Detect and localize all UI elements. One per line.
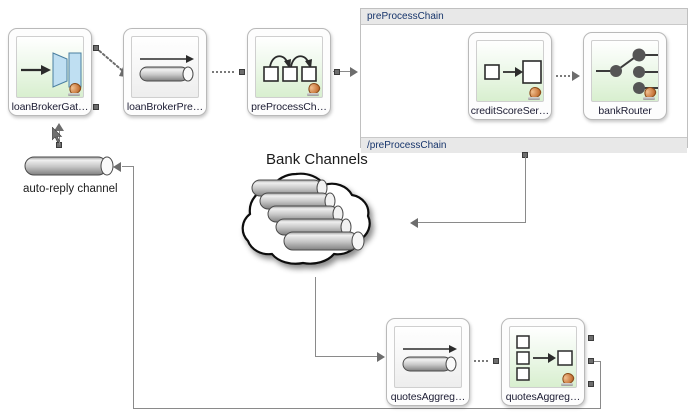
java-bean-badge-icon xyxy=(643,87,656,100)
auto-reply-channel[interactable]: auto-reply channel xyxy=(23,155,115,195)
node-creditscoreservice[interactable]: creditScoreSer… xyxy=(468,32,552,120)
connector-cloud-to-quotes xyxy=(315,356,378,357)
arrowhead-cloud-in xyxy=(410,218,418,228)
node-label: quotesAggreg… xyxy=(391,391,466,403)
connection-handle-chain-in[interactable] xyxy=(239,69,245,75)
node-label: bankRouter xyxy=(598,105,651,117)
connection-handle-aggregator-top[interactable] xyxy=(588,335,594,341)
connection-handle-gateway-out-bottom[interactable] xyxy=(93,104,99,110)
bank-channels-label: Bank Channels xyxy=(266,151,368,168)
pipe-channel-icon xyxy=(394,326,462,388)
node-label: quotesAggreg… xyxy=(506,391,581,403)
preprocesschain-footer-label: /preProcessChain xyxy=(361,137,687,153)
connector-quotes-channel-to-aggregator xyxy=(474,360,490,362)
node-bankrouter[interactable]: bankRouter xyxy=(583,32,667,120)
java-bean-badge-icon xyxy=(528,87,541,100)
connector-cloud-down xyxy=(315,277,316,356)
arrowhead-router-in xyxy=(572,71,580,81)
connector-return-to-autoreply xyxy=(122,166,134,167)
connection-handle-aggregator-bottom[interactable] xyxy=(588,381,594,387)
node-preprocesschain[interactable]: preProcessCh… xyxy=(247,28,331,116)
aggregator-icon xyxy=(509,326,577,388)
java-bean-badge-icon xyxy=(561,373,574,386)
arrowhead-subchain-in xyxy=(350,67,358,77)
node-loanbrokerpre[interactable]: loanBrokerPre… xyxy=(123,28,207,116)
java-bean-badge-icon xyxy=(68,83,81,96)
node-label: loanBrokerPre… xyxy=(127,101,203,113)
connector-bottom-return xyxy=(133,408,601,409)
router-icon xyxy=(591,40,659,102)
java-bean-badge-icon xyxy=(307,83,320,96)
mouse-cursor xyxy=(52,127,63,143)
connector-left-return-up xyxy=(133,166,134,409)
node-quotesaggregator[interactable]: quotesAggreg… xyxy=(501,318,585,406)
bank-channels-cloud[interactable] xyxy=(206,168,406,283)
node-quotesaggregator-channel[interactable]: quotesAggreg… xyxy=(386,318,470,406)
pipe-shape xyxy=(23,155,115,177)
preprocesschain-header-label: preProcessChain xyxy=(361,9,687,25)
auto-reply-channel-label: auto-reply channel xyxy=(23,183,115,195)
diagram-canvas: preProcessChain /preProcessChain xyxy=(0,0,688,419)
connection-handle-chain-out[interactable] xyxy=(334,69,340,75)
arrowhead-quotes-channel-in xyxy=(377,352,385,362)
node-label: loanBrokerGat… xyxy=(12,101,89,113)
chain-icon xyxy=(255,36,323,98)
connector-credit-to-router xyxy=(556,75,572,77)
node-label: preProcessCh… xyxy=(251,101,327,113)
connection-handle-gateway-out-top[interactable] xyxy=(93,45,99,51)
connector-pre-to-chain xyxy=(212,71,234,73)
connector-router-to-cloud xyxy=(418,222,526,223)
translator-icon xyxy=(476,40,544,102)
connector-aggregator-down xyxy=(600,361,601,408)
pipe-channel-icon xyxy=(131,36,199,98)
connection-handle-aggregator-in[interactable] xyxy=(493,358,499,364)
node-loanbrokergateway[interactable]: loanBrokerGat… xyxy=(8,28,92,116)
gateway-icon xyxy=(16,36,84,98)
node-label: creditScoreSer… xyxy=(471,105,549,117)
connector-router-down xyxy=(525,157,526,223)
